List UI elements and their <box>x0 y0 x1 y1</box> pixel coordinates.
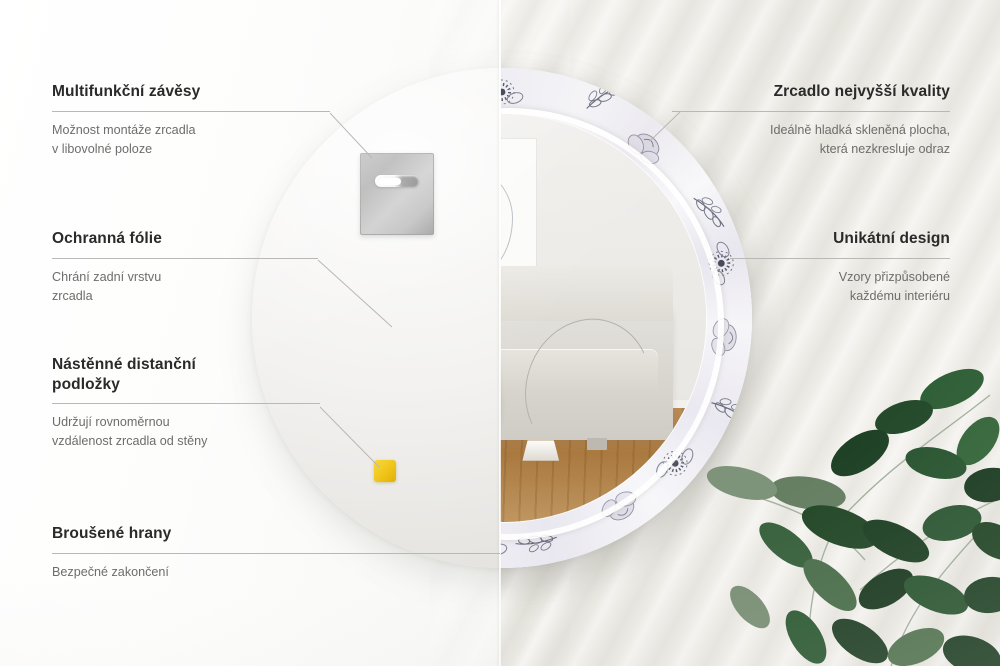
callout-description: Udržují rovnoměrnou vzdálenost zrcadla o… <box>52 413 320 451</box>
callout-rule <box>52 553 500 554</box>
bracket-slot-highlight <box>379 178 401 185</box>
callout-description: Vzory přizpůsobené každému interiéru <box>730 268 950 306</box>
callout-rule <box>730 258 950 259</box>
callout-title: Unikátní design <box>730 229 950 249</box>
callout-description-line: která nezkresluje odraz <box>672 140 950 159</box>
callout-title: Multifunkční závěsy <box>52 82 330 102</box>
callout-rule <box>52 258 318 259</box>
callout-rule <box>672 111 950 112</box>
bracket-slot <box>375 175 419 187</box>
callout-description-line: Chrání zadní vrstvu <box>52 268 318 287</box>
callout-description-line: Bezpečné zakončení <box>52 563 500 582</box>
callout-nastenne-distancni-podlozky: Nástěnné distanční podložky Udržují rovn… <box>52 355 320 451</box>
callout-rule <box>52 403 320 404</box>
callout-rule <box>52 111 330 112</box>
callout-description-line: Možnost montáže zrcadla <box>52 121 330 140</box>
callout-description-line: Udržují rovnoměrnou <box>52 413 320 432</box>
callout-unikatni-design: Unikátní design Vzory přizpůsobené každé… <box>730 229 950 306</box>
callout-title-line: Nástěnné distanční <box>52 355 320 375</box>
callout-title: Broušené hrany <box>52 524 500 544</box>
callout-description: Ideálně hladká skleněná plocha, která ne… <box>672 121 950 159</box>
callout-title: Nástěnné distanční podložky <box>52 355 320 394</box>
callout-title: Zrcadlo nejvyšší kvality <box>672 82 950 102</box>
callout-title-line: podložky <box>52 375 320 395</box>
callout-description-line: zrcadla <box>52 287 318 306</box>
callout-description-line: Ideálně hladká skleněná plocha, <box>672 121 950 140</box>
infographic-canvas: Multifunkční závěsy Možnost montáže zrca… <box>0 0 1000 666</box>
callout-title: Ochranná fólie <box>52 229 318 249</box>
decorative-plant <box>690 345 1000 666</box>
callout-zrcadlo-nejvyssi-kvality: Zrcadlo nejvyšší kvality Ideálně hladká … <box>672 82 950 159</box>
callout-ochranna-folie: Ochranná fólie Chrání zadní vrstvu zrcad… <box>52 229 318 306</box>
callout-brousene-hrany: Broušené hrany Bezpečné zakončení <box>52 524 500 582</box>
callout-description: Chrání zadní vrstvu zrcadla <box>52 268 318 306</box>
callout-description: Bezpečné zakončení <box>52 563 500 582</box>
leaf-icon <box>690 345 1000 666</box>
callout-description-line: vzdálenost zrcadla od stěny <box>52 432 320 451</box>
spacer-pad <box>374 460 396 482</box>
callout-description-line: v libovolné poloze <box>52 140 330 159</box>
callout-description-line: Vzory přizpůsobené <box>730 268 950 287</box>
callout-description: Možnost montáže zrcadla v libovolné polo… <box>52 121 330 159</box>
callout-multifunkcni-zavesy: Multifunkční závěsy Možnost montáže zrca… <box>52 82 330 159</box>
hanging-bracket-icon <box>360 153 434 235</box>
callout-description-line: každému interiéru <box>730 287 950 306</box>
